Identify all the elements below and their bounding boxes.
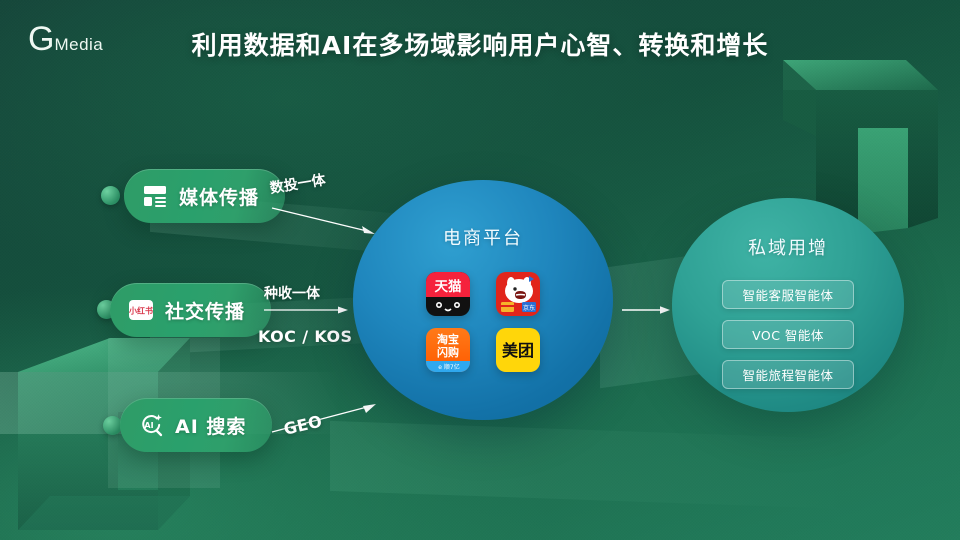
ecommerce-title: 电商平台	[443, 224, 523, 250]
channel-pill-media[interactable]: 媒体传播	[124, 169, 285, 223]
ecommerce-app-grid: 天猫 京东	[426, 272, 540, 372]
ecommerce-circle: 电商平台 天猫	[353, 180, 613, 420]
svg-text:天猫: 天猫	[435, 278, 462, 295]
article-layout-icon	[142, 183, 168, 209]
connector-media: 数投一体	[270, 178, 326, 198]
agent-chip[interactable]: 智能旅程智能体	[722, 360, 854, 389]
tmall-icon[interactable]: 天猫	[426, 272, 470, 316]
svg-text:e 顺7亿: e 顺7亿	[438, 363, 459, 371]
page-title: 利用数据和AI在多场域影响用户心智、转换和增长	[0, 26, 960, 62]
svg-text:AI: AI	[144, 421, 153, 430]
private-domain-circle: 私域用增 智能客服智能体 VOC 智能体 智能旅程智能体	[672, 198, 904, 412]
ai-search-icon: AI	[138, 412, 164, 438]
channel-pill-ai-search[interactable]: AI AI 搜索	[120, 398, 272, 452]
agent-chip-list: 智能客服智能体 VOC 智能体 智能旅程智能体	[722, 280, 854, 389]
svg-text:京东: 京东	[523, 304, 535, 312]
slide-canvas: G Media 利用数据和AI在多场域影响用户心智、转换和增长 媒体传播 小红书…	[0, 0, 960, 540]
connector-sublabel: KOC / KOS	[258, 327, 352, 346]
jd-icon[interactable]: 京东	[496, 272, 540, 316]
private-domain-title: 私域用增	[748, 234, 828, 260]
flow-arrow-right-icon	[622, 303, 672, 322]
channel-label: 媒体传播	[179, 183, 259, 210]
agent-chip[interactable]: VOC 智能体	[722, 320, 854, 349]
agent-chip[interactable]: 智能客服智能体	[722, 280, 854, 309]
taobao-shangou-icon[interactable]: 淘宝 闪购 e 顺7亿	[426, 328, 470, 372]
light-wedge	[330, 421, 850, 509]
svg-text:淘宝: 淘宝	[437, 332, 459, 346]
svg-text:小红书: 小红书	[128, 306, 153, 316]
connector-label: 数投一体	[268, 169, 326, 198]
channel-label: AI 搜索	[175, 412, 246, 439]
channel-pill-social[interactable]: 小红书 社交传播	[110, 283, 271, 337]
svg-text:闪购: 闪购	[437, 345, 459, 359]
connector-label: 种收一体	[264, 283, 352, 303]
svg-text:美团: 美团	[502, 341, 534, 360]
pill-bullet-dot	[101, 186, 120, 205]
meituan-icon[interactable]: 美团	[496, 328, 540, 372]
xiaohongshu-icon: 小红书	[128, 297, 154, 323]
connector-social: 种收一体 KOC / KOS	[264, 283, 352, 346]
channel-label: 社交传播	[165, 297, 245, 324]
